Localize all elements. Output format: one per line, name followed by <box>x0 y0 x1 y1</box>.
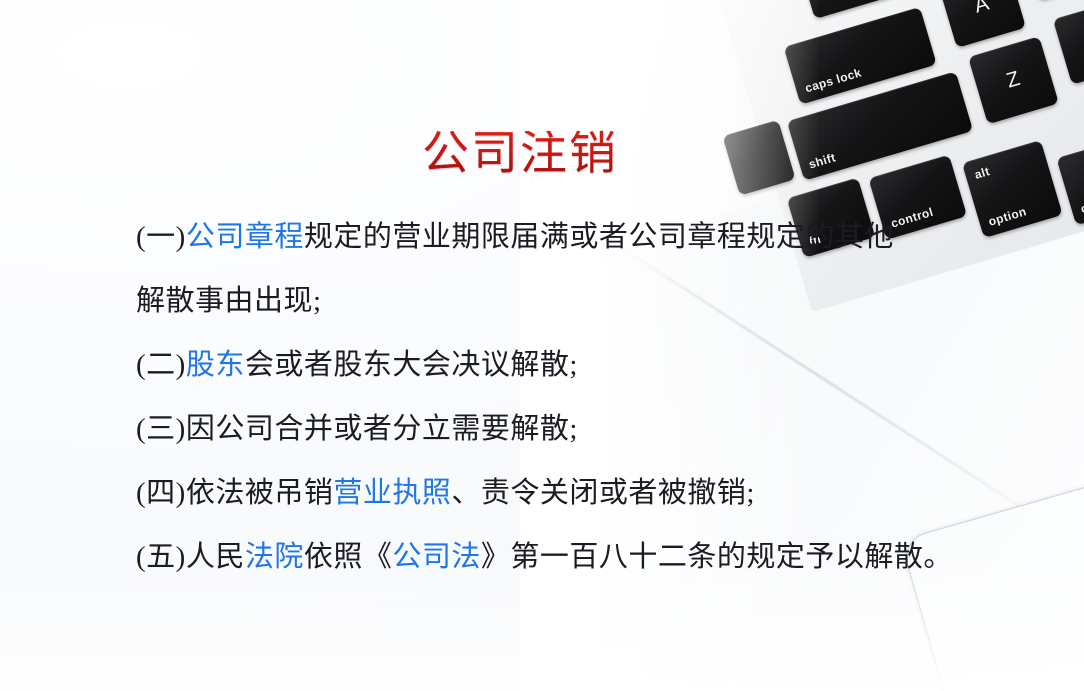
clause-2-marker: (二) <box>136 349 186 381</box>
clause-4-text: 、责令关闭或者被撤销; <box>451 477 755 509</box>
clause-1-text: 规定的营业期限届满或者公司章程规定的其他 <box>304 221 894 253</box>
clause-item-4: (四)依法被吊销营业执照、责令关闭或者被撤销; <box>136 461 1066 525</box>
clause-5-marker: (五) <box>136 541 186 573</box>
clause-item-5: (五)人民法院依照《公司法》第一百八十二条的规定予以解散。 <box>136 525 1066 589</box>
clause-1-marker: (一) <box>136 221 186 253</box>
link-court[interactable]: 法院 <box>245 541 304 573</box>
link-business-license[interactable]: 营业执照 <box>333 477 451 509</box>
clause-item-2: (二)股东会或者股东大会决议解散; <box>136 333 1066 397</box>
clause-4-marker: (四) <box>136 477 186 509</box>
page-title-text: 公司注销 <box>422 131 618 178</box>
clause-5-mid: 依照《 <box>304 541 393 573</box>
clause-3-text: 因公司合并或者分立需要解散; <box>186 413 578 445</box>
document-content: 公司注销 (一)公司章程规定的营业期限届满或者公司章程规定的其他 解散事由出现;… <box>0 0 1084 691</box>
clause-4-pre: 依法被吊销 <box>186 477 334 509</box>
clause-3-marker: (三) <box>136 413 186 445</box>
clause-item-1-continuation: 解散事由出现; <box>136 269 1066 333</box>
clause-2-text: 会或者股东大会决议解散; <box>245 349 578 381</box>
clause-5-pre: 人民 <box>186 541 245 573</box>
clause-list: (一)公司章程规定的营业期限届满或者公司章程规定的其他 解散事由出现; (二)股… <box>136 205 1066 589</box>
clause-item-1: (一)公司章程规定的营业期限届满或者公司章程规定的其他 <box>136 205 1066 269</box>
link-company-articles[interactable]: 公司章程 <box>186 221 304 253</box>
page-canvas: caps lock shift fn control alt option co… <box>0 0 1084 691</box>
link-shareholder[interactable]: 股东 <box>186 349 245 381</box>
page-title: 公司注销 <box>0 131 1084 178</box>
clause-5-text: 》第一百八十二条的规定予以解散。 <box>481 541 953 573</box>
link-company-law[interactable]: 公司法 <box>392 541 481 573</box>
clause-item-3: (三)因公司合并或者分立需要解散; <box>136 397 1066 461</box>
clause-1-line2: 解散事由出现; <box>136 285 322 317</box>
